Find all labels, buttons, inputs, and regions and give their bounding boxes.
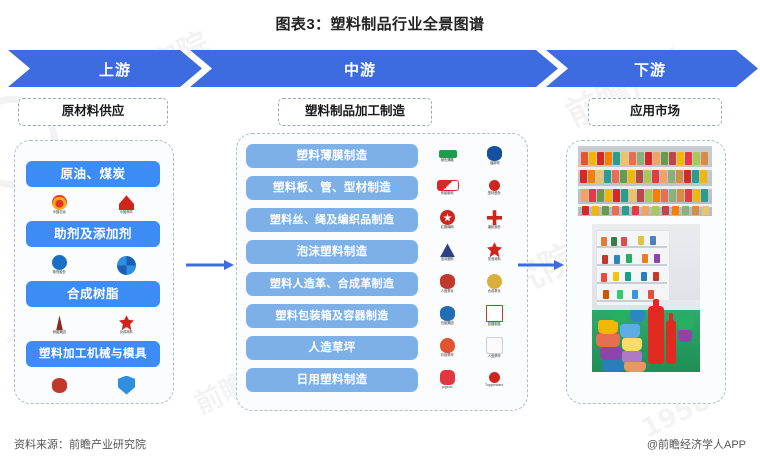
china-coal-logo: 中国神华 [110, 193, 144, 217]
midstream-item-6[interactable]: 人造草坪 [246, 336, 418, 360]
brand-label: @前瞻经济学人APP [647, 436, 746, 452]
upstream-logos-1: 助剂股份 [26, 251, 160, 279]
turf-company-logo: 共创草坪 [431, 336, 465, 360]
band-label-midstream: 中游 [210, 59, 510, 80]
chart-title: 图表3：塑料制品行业全景图谱 [0, 13, 760, 34]
midstream-logos-6: 共创草坪 人造草坪 [424, 336, 518, 360]
supermarket-shelf-photo [578, 146, 712, 216]
source-note: 资料来源：前瞻产业研究院 [14, 436, 146, 452]
midstream-row: 塑料包装箱及容器制造 包装集团 容器制造 [246, 304, 518, 332]
midstream-item-5[interactable]: 塑料包装箱及容器制造 [246, 304, 418, 328]
foam-company-logo: 泡沫塑料 [431, 240, 465, 264]
upstream-item-2[interactable]: 合成树脂 [26, 281, 160, 307]
midstream-logos-3: 泡沫塑料 发泡材料 [424, 240, 518, 264]
pigeon-logo: pigeon [431, 368, 465, 392]
band-label-downstream: 下游 [570, 59, 730, 80]
midstream-item-7[interactable]: 日用塑料制造 [246, 368, 418, 392]
upstream-item-1[interactable]: 助剂及添加剂 [26, 221, 160, 247]
leather-company-logo: 人造革业 [431, 272, 465, 296]
midstream-item-2[interactable]: 塑料丝、绳及编织品制造 [246, 208, 418, 232]
upstream-logos-0: 中国石油 中国神华 [26, 191, 160, 219]
resin-company-logo: 树脂集团 [43, 313, 77, 337]
subhead-application-market: 应用市场 [588, 98, 722, 126]
pipe-company-logo: 伟星新材 [431, 176, 465, 200]
midstream-row: 人造草坪 共创草坪 人造草坪 [246, 336, 518, 364]
synthetic-leather-logo: 合成革业 [478, 272, 512, 296]
midstream-logos-4: 人造革业 合成革业 [424, 272, 518, 296]
midstream-item-0[interactable]: 塑料薄膜制造 [246, 144, 418, 168]
packaging-company-logo: 包装集团 [431, 304, 465, 328]
midstream-row: 塑料丝、绳及编织品制造 红旗绳网 编织股份 [246, 208, 518, 236]
band-label-upstream: 上游 [40, 59, 190, 80]
blue-swirl-company-logo [110, 253, 144, 277]
upstream-logos-2: 树脂集团 合成材料 [26, 311, 160, 339]
tupperware-logo: Tupperware [478, 368, 512, 392]
plastic-housewares-photo [592, 224, 700, 372]
sinopec-logo: 中国石油 [43, 193, 77, 217]
weave-company-logo: 编织股份 [478, 208, 512, 232]
midstream-row: 塑料薄膜制造 绿色薄膜 福斯特 [246, 144, 518, 172]
midstream-logos-0: 绿色薄膜 福斯特 [424, 144, 518, 168]
profile-company-logo: 型材股份 [478, 176, 512, 200]
subhead-raw-material-supply: 原材料供应 [18, 98, 168, 126]
midstream-logos-2: 红旗绳网 编织股份 [424, 208, 518, 232]
green-film-company-logo: 绿色薄膜 [431, 144, 465, 168]
diagram-canvas: 前瞻 研究院 研究院 前瞻产业 研究院 1958 前瞻经济 图表3：塑料制品行业… [0, 0, 760, 464]
upstream-item-3[interactable]: 塑料加工机械与模具 [26, 341, 160, 367]
upstream-to-midstream-arrow [186, 257, 234, 267]
machinery-company-logo [43, 373, 77, 397]
midstream-row: 塑料板、管、型材制造 伟星新材 型材股份 [246, 176, 518, 204]
rope-company-logo: 红旗绳网 [431, 208, 465, 232]
additive-company-logo: 助剂股份 [43, 253, 77, 277]
subhead-plastic-processing: 塑料制品加工制造 [278, 98, 432, 126]
midstream-item-4[interactable]: 塑料人造革、合成革制造 [246, 272, 418, 296]
midstream-logos-5: 包装集团 容器制造 [424, 304, 518, 328]
midstream-row: 日用塑料制造 pigeon Tupperware [246, 368, 518, 396]
mould-company-logo [110, 373, 144, 397]
midstream-row: 塑料人造革、合成革制造 人造革业 合成革业 [246, 272, 518, 300]
midstream-logos-1: 伟星新材 型材股份 [424, 176, 518, 200]
foam-company-logo-2: 发泡材料 [478, 240, 512, 264]
midstream-logos-7: pigeon Tupperware [424, 368, 518, 392]
upstream-item-0[interactable]: 原油、煤炭 [26, 161, 160, 187]
midstream-to-downstream-arrow [518, 257, 564, 267]
container-company-logo: 容器制造 [478, 304, 512, 328]
fspg-logo: 福斯特 [478, 144, 512, 168]
midstream-row: 泡沫塑料制造 泡沫塑料 发泡材料 [246, 240, 518, 268]
midstream-item-1[interactable]: 塑料板、管、型材制造 [246, 176, 418, 200]
red-flower-company-logo: 合成材料 [110, 313, 144, 337]
upstream-logos-3 [26, 371, 160, 399]
midstream-item-3[interactable]: 泡沫塑料制造 [246, 240, 418, 264]
turf-company-logo-2: 人造草坪 [478, 336, 512, 360]
